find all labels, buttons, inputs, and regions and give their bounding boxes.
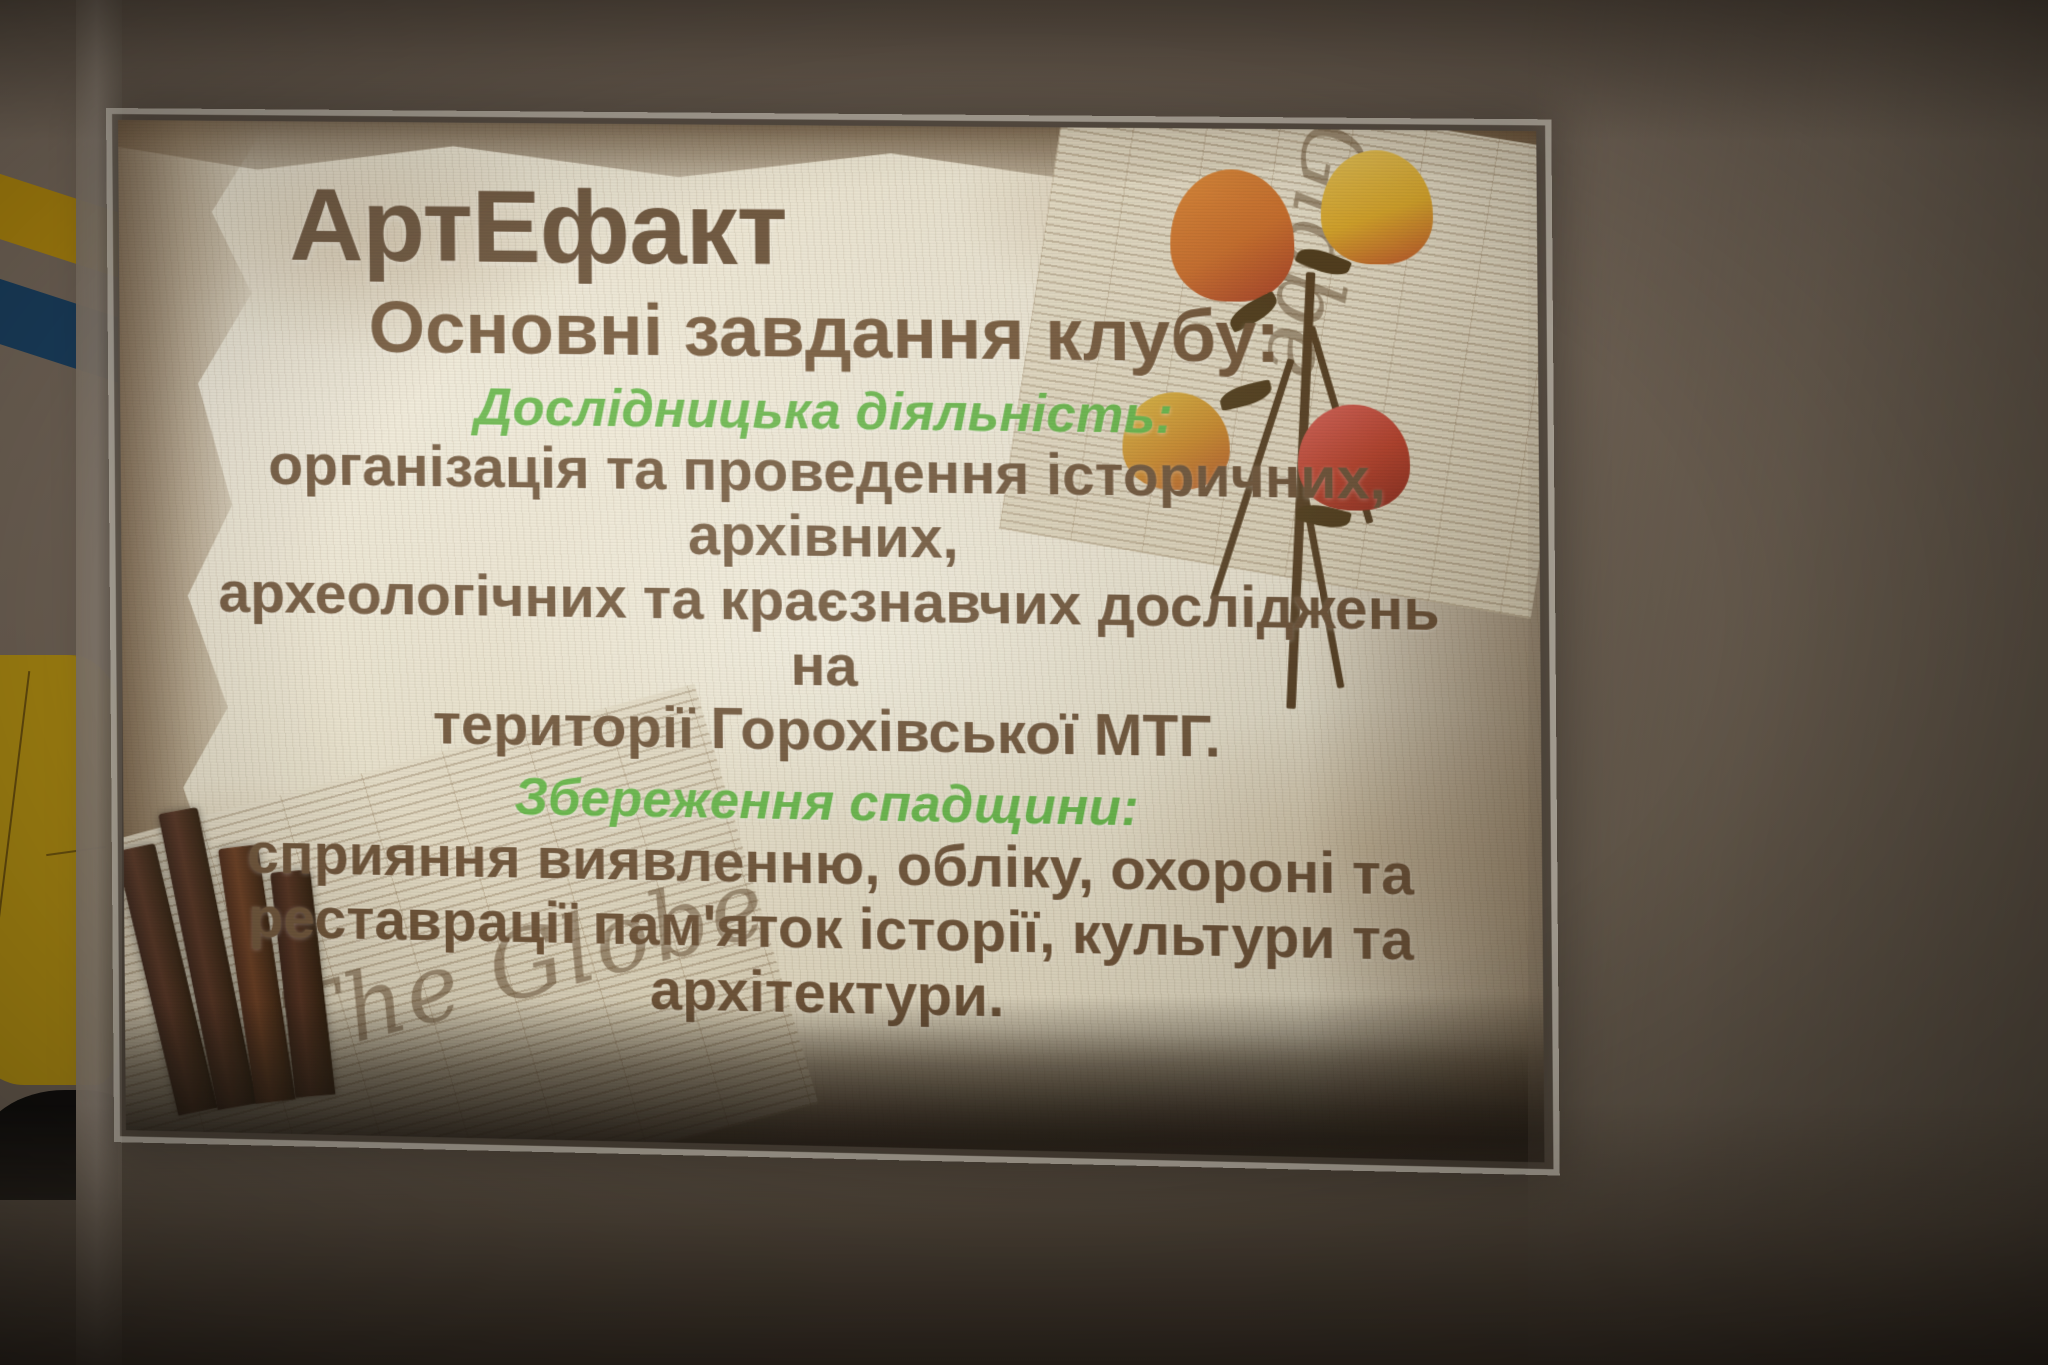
photograph-of-projected-slide: Globe The Globe АртЕфакт <box>0 0 2048 1365</box>
slide-content: АртЕфакт Основні завдання клубу: Дослідн… <box>118 120 1544 1041</box>
section-1-line-2: археологічних та краєзнавчих досліджень … <box>191 561 1468 710</box>
section-1-line-1: організація та проведення історичних, ар… <box>190 433 1466 579</box>
wall-edge-strip <box>76 0 122 1365</box>
slide-title: АртЕфакт <box>188 173 1464 288</box>
projection-screen: Globe The Globe АртЕфакт <box>118 120 1544 1162</box>
slide-subtitle: Основні завдання клубу: <box>189 289 1465 379</box>
